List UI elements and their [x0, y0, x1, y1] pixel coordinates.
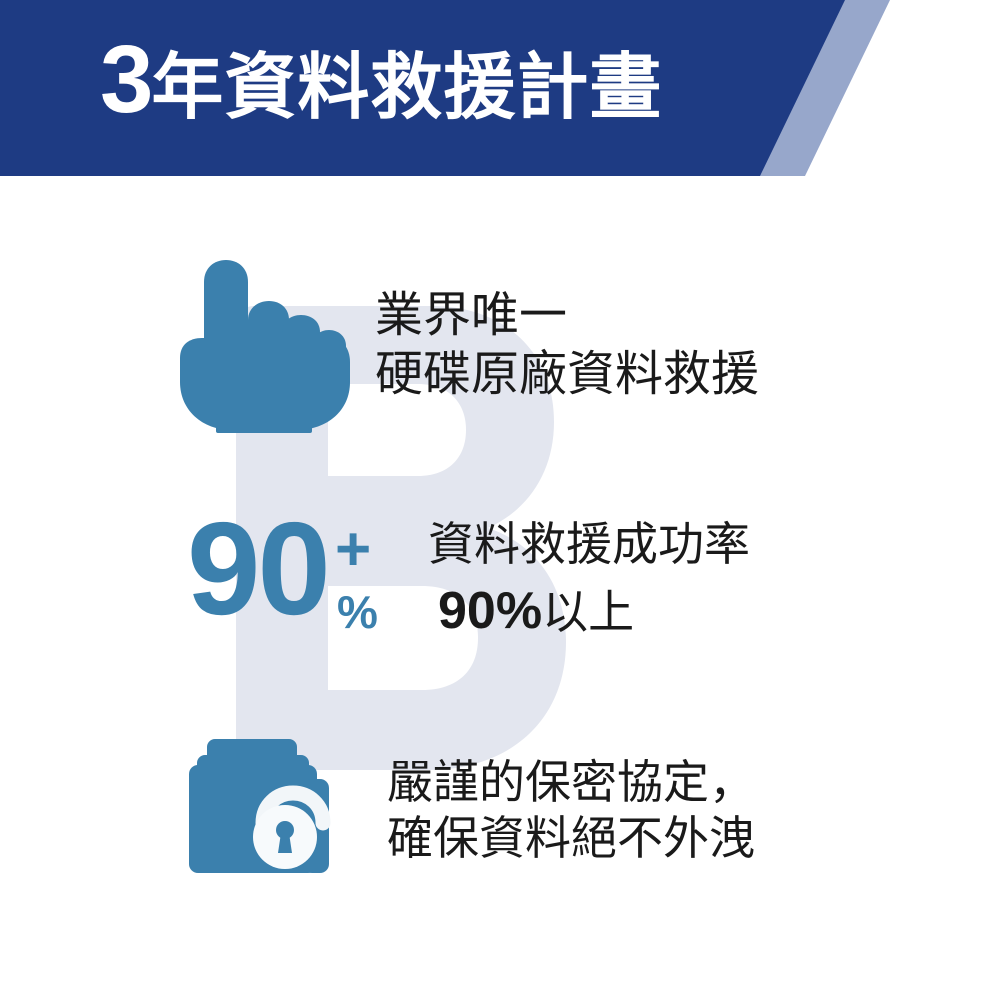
- stat-90-plus-percent: 90 + %: [165, 505, 395, 655]
- feature-line: 嚴謹的保密協定，: [387, 754, 755, 810]
- feature-line: 資料救援成功率: [428, 516, 750, 572]
- stat-value: 90: [187, 503, 328, 635]
- feature-text-success-rate: 資料救援成功率 90%以上: [428, 516, 750, 644]
- locked-folders-icon: [185, 735, 345, 885]
- header-banner: 3年資料救援計畫: [0, 0, 1000, 176]
- feature-line-bold-suffix: 以上: [542, 586, 634, 638]
- feature-row-confidentiality: 嚴謹的保密協定， 確保資料絕不外洩: [0, 735, 755, 885]
- feature-text-exclusive: 業界唯一 硬碟原廠資料救援: [375, 287, 759, 404]
- stat-percent-sign: %: [337, 589, 378, 635]
- pointing-hand-icon: [170, 258, 355, 433]
- header-number: 3: [100, 26, 151, 133]
- infographic-poster: 3年資料救援計畫 業界唯一 硬碟原廠資料救援 90: [0, 0, 1000, 1000]
- feature-line: 確保資料絕不外洩: [387, 810, 755, 866]
- feature-line-bold-prefix: 90%: [438, 582, 542, 640]
- page-title: 3年資料救援計畫: [100, 32, 662, 128]
- header-title-text: 年資料救援計畫: [151, 48, 662, 128]
- feature-text-confidentiality: 嚴謹的保密協定， 確保資料絕不外洩: [387, 754, 755, 866]
- feature-line: 硬碟原廠資料救援: [375, 346, 759, 405]
- feature-row-success-rate: 90 + % 資料救援成功率 90%以上: [0, 505, 750, 655]
- feature-row-exclusive: 業界唯一 硬碟原廠資料救援: [0, 258, 759, 433]
- feature-line-bold: 90%以上: [438, 580, 750, 643]
- feature-line: 業界唯一: [375, 287, 759, 346]
- stat-plus-sign: +: [335, 519, 371, 581]
